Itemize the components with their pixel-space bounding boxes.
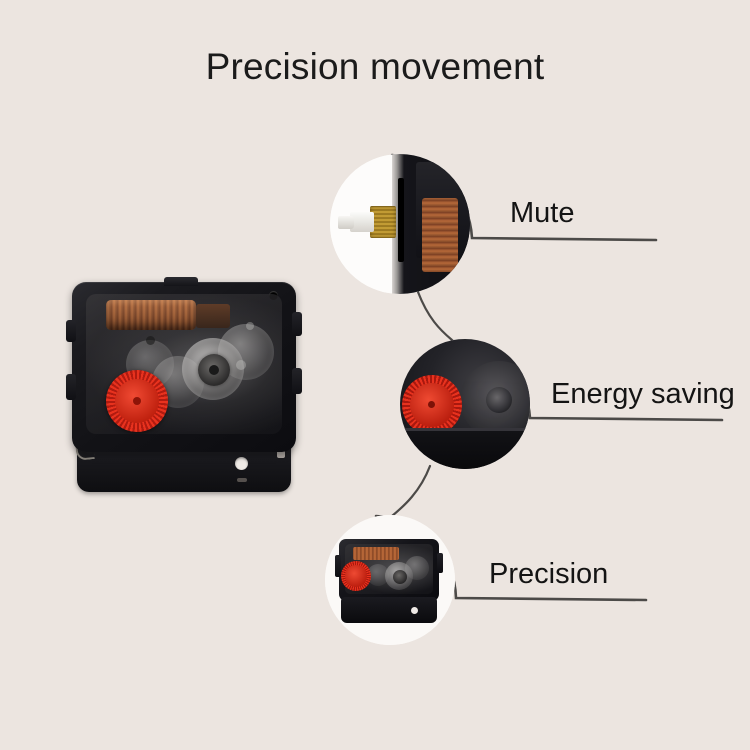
red-drive-gear: [106, 370, 168, 432]
mini-mounting-hole-icon: [411, 607, 418, 614]
mini-mounting-base: [341, 597, 437, 623]
gear-pin-1: [236, 360, 246, 370]
callout-label-precision: Precision: [489, 558, 608, 591]
callout-image-energy-saving: [400, 339, 530, 469]
mini-gear-hub: [393, 570, 407, 584]
mini-tab-right: [437, 553, 443, 573]
movement-transparent-window: [86, 294, 282, 434]
callout-image-precision: [325, 515, 455, 645]
callout-label-energy-saving: Energy saving: [551, 378, 735, 411]
page-title: Precision movement: [0, 46, 750, 88]
mounting-hole-icon: [235, 457, 248, 470]
white-shaft-tip: [338, 216, 354, 229]
housing-top-nub: [164, 277, 198, 286]
red-drive-gear-macro: [402, 375, 462, 435]
gear-pin-2: [246, 322, 254, 330]
side-copper-coil: [422, 198, 458, 272]
movement-housing: [72, 282, 296, 452]
base-notch: [237, 478, 247, 482]
gear-pin-3: [146, 336, 155, 345]
housing-base-edge: [400, 431, 530, 469]
callout-image-mute: [330, 154, 470, 294]
copper-coil: [106, 300, 196, 330]
coil-lead: [196, 304, 230, 328]
product-main-image: [72, 282, 296, 492]
housing-tab-right-upper: [292, 312, 302, 336]
callout-label-mute: Mute: [510, 197, 574, 230]
gear-center-hub: [198, 354, 230, 386]
housing-tab-left-upper: [66, 320, 76, 342]
mini-red-gear: [341, 561, 371, 591]
movement-full-unit-mini: [339, 539, 439, 623]
infographic-canvas: Precision movement: [0, 0, 750, 750]
housing-tab-right-lower: [292, 368, 302, 394]
housing-tab-left-lower: [66, 374, 76, 400]
mini-copper-coil: [353, 547, 399, 560]
side-profile-slot: [398, 178, 404, 262]
